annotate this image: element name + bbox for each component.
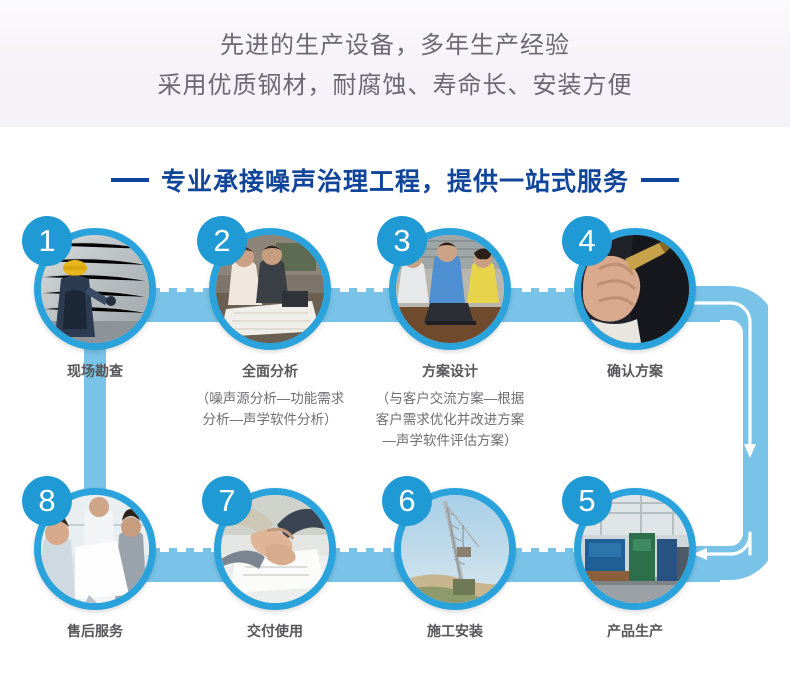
node-caption-8: 售后服务 (20, 621, 170, 641)
node-subcaption-2: （噪声源分析—功能需求分析—声学软件分析） (190, 388, 350, 430)
node-caption-7: 交付使用 (200, 621, 350, 641)
node-subcaption-3: （与客户交流方案—根据客户需求优化并改进方案—声学软件评估方案） (370, 388, 530, 451)
flow-node-7[interactable]: 7 交付使用 (200, 488, 350, 641)
node-circle-3: 3 (389, 228, 511, 350)
node-badge-3: 3 (377, 216, 427, 266)
node-badge-5: 5 (562, 476, 612, 526)
node-badge-7: 7 (202, 476, 252, 526)
node-badge-4: 4 (562, 216, 612, 266)
node-caption-2: 全面分析 (195, 361, 345, 381)
node-badge-2: 2 (197, 216, 247, 266)
flow-node-2[interactable]: 2 全面分析 （噪声源分析—功能需求分析—声学软件分析） (195, 228, 345, 430)
node-badge-1: 1 (22, 216, 72, 266)
node-circle-8: 8 (34, 488, 156, 610)
node-caption-3: 方案设计 (375, 361, 525, 381)
node-circle-1: 1 (34, 228, 156, 350)
node-circle-2: 2 (209, 228, 331, 350)
node-caption-6: 施工安装 (380, 621, 530, 641)
node-circle-4: 4 (574, 228, 696, 350)
flow-node-3[interactable]: 3 方案设计 （与客户交流方案—根据客户需求优化并改进方案—声学软件评估方案） (375, 228, 525, 451)
flow-node-8[interactable]: 8 售后服务 (20, 488, 170, 641)
node-caption-1: 现场勘查 (20, 361, 170, 381)
flow-node-4[interactable]: 4 确认方案 (560, 228, 710, 381)
node-circle-7: 7 (214, 488, 336, 610)
node-circle-5: 5 (574, 488, 696, 610)
flow-node-1[interactable]: 1 现场勘查 (20, 228, 170, 381)
flow-node-5[interactable]: 5 产品生产 (560, 488, 710, 641)
node-badge-8: 8 (22, 476, 72, 526)
node-circle-6: 6 (394, 488, 516, 610)
process-flow-diagram: 1 现场勘查 (0, 0, 790, 687)
node-badge-6: 6 (382, 476, 432, 526)
flow-node-6[interactable]: 6 施工安装 (380, 488, 530, 641)
node-caption-5: 产品生产 (560, 621, 710, 641)
node-caption-4: 确认方案 (560, 361, 710, 381)
